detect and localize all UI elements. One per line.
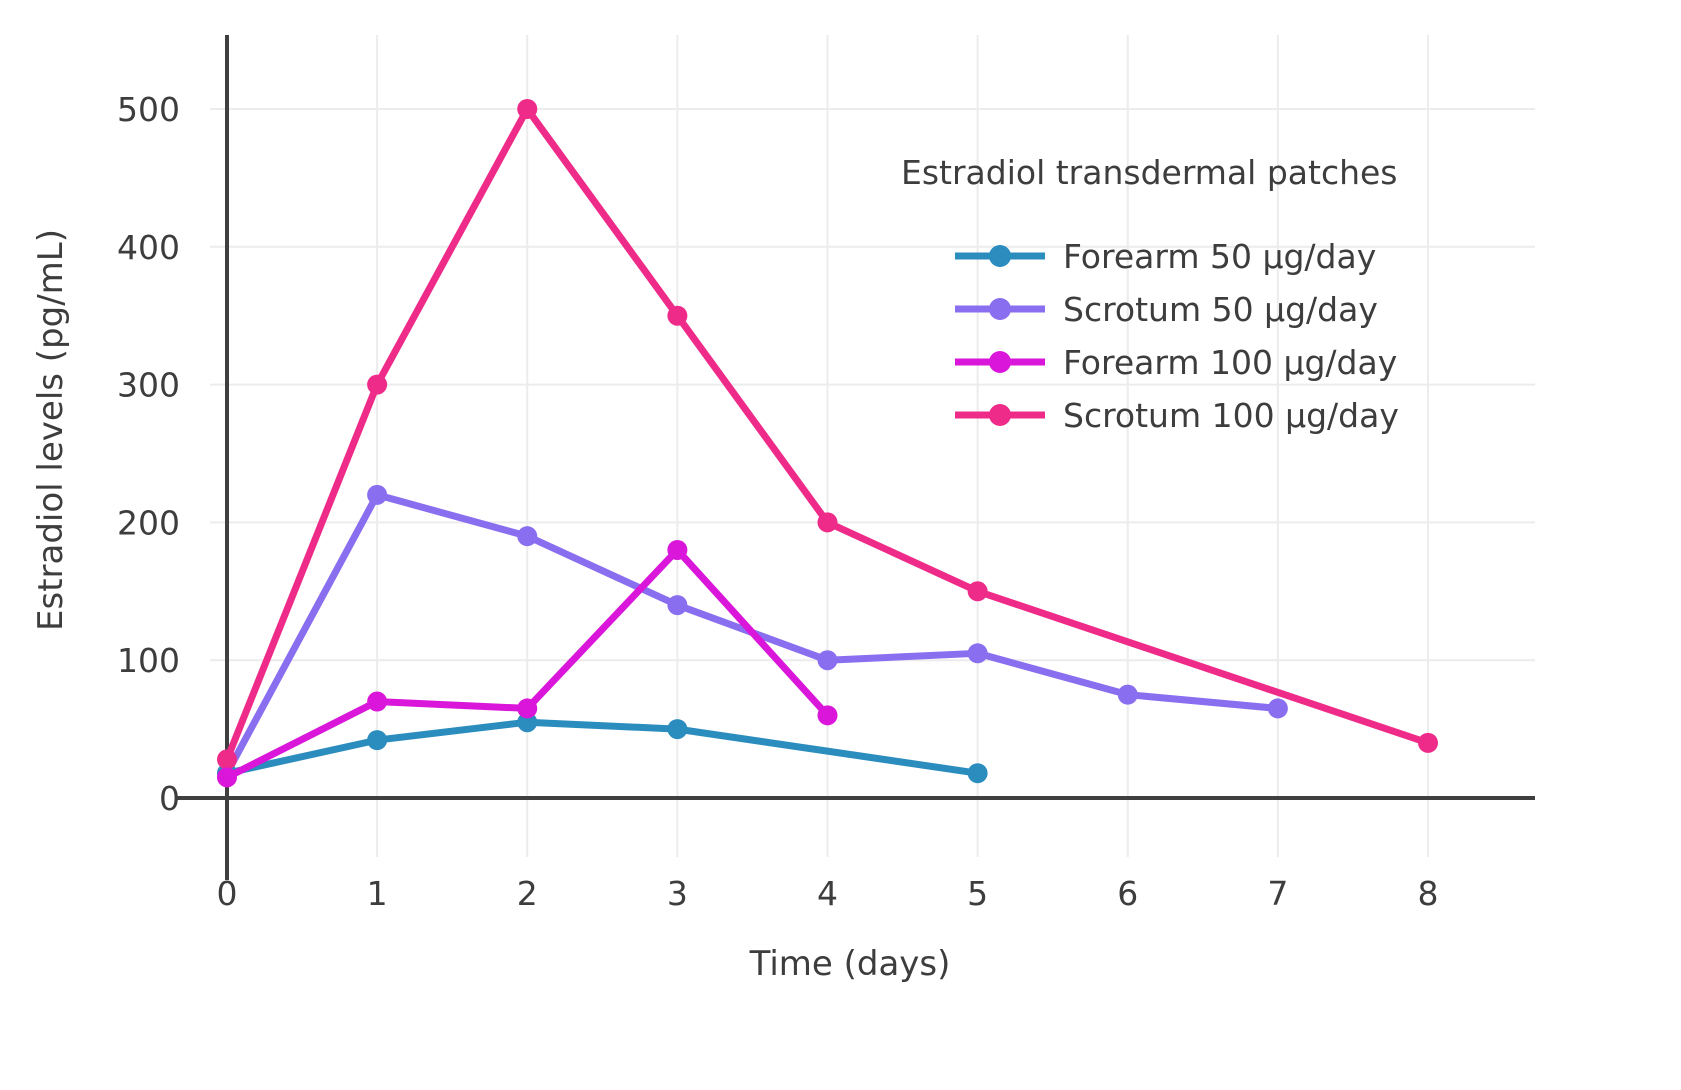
data-point — [667, 595, 687, 615]
data-point — [217, 767, 237, 787]
data-point — [367, 692, 387, 712]
legend-item[interactable]: Forearm 50 µg/day — [955, 237, 1376, 276]
x-tick-label: 6 — [1117, 874, 1138, 913]
data-point — [968, 643, 988, 663]
legend: Estradiol transdermal patches Forearm 50… — [901, 153, 1399, 435]
y-tick-label: 400 — [117, 228, 180, 267]
y-axis-title: Estradiol levels (pg/mL) — [31, 229, 71, 631]
data-point — [818, 512, 838, 532]
legend-swatch-marker — [989, 245, 1011, 267]
data-point — [667, 540, 687, 560]
legend-item-label: Forearm 100 µg/day — [1063, 343, 1397, 382]
chart-container: 0100200300400500 012345678 Estradiol lev… — [0, 0, 1681, 1090]
data-point — [367, 730, 387, 750]
y-tick-label: 500 — [117, 90, 180, 129]
x-tick-label: 2 — [517, 874, 538, 913]
x-tick-labels: 012345678 — [217, 874, 1439, 913]
y-tick-labels: 0100200300400500 — [117, 90, 180, 818]
data-point — [1268, 698, 1288, 718]
x-axis-title: Time (days) — [749, 944, 951, 984]
y-tick-label: 100 — [117, 641, 180, 680]
data-point — [367, 375, 387, 395]
data-point — [1418, 733, 1438, 753]
legend-swatch-marker — [989, 298, 1011, 320]
data-point — [517, 698, 537, 718]
legend-item-label: Scrotum 100 µg/day — [1063, 396, 1399, 435]
data-point — [667, 719, 687, 739]
legend-item[interactable]: Forearm 100 µg/day — [955, 343, 1397, 382]
data-point — [968, 763, 988, 783]
legend-title: Estradiol transdermal patches — [901, 153, 1398, 192]
x-tick-label: 7 — [1267, 874, 1288, 913]
x-tick-label: 1 — [367, 874, 388, 913]
data-point — [1118, 685, 1138, 705]
legend-items: Forearm 50 µg/dayScrotum 50 µg/dayForear… — [955, 237, 1399, 435]
data-point — [367, 485, 387, 505]
series-line — [227, 722, 978, 773]
data-point — [517, 99, 537, 119]
y-tick-label: 200 — [117, 503, 180, 542]
x-tick-label: 3 — [667, 874, 688, 913]
x-tick-label: 8 — [1418, 874, 1439, 913]
x-tick-label: 5 — [967, 874, 988, 913]
line-chart: 0100200300400500 012345678 Estradiol lev… — [0, 0, 1681, 1090]
legend-item[interactable]: Scrotum 50 µg/day — [955, 290, 1378, 329]
data-point — [818, 705, 838, 725]
y-tick-label: 300 — [117, 366, 180, 405]
legend-swatch-marker — [989, 351, 1011, 373]
y-tick-label: 0 — [159, 779, 180, 818]
data-point — [818, 650, 838, 670]
x-tick-label: 4 — [817, 874, 838, 913]
legend-item[interactable]: Scrotum 100 µg/day — [955, 396, 1399, 435]
legend-item-label: Forearm 50 µg/day — [1063, 237, 1376, 276]
legend-swatch-marker — [989, 404, 1011, 426]
x-tick-label: 0 — [217, 874, 238, 913]
data-point — [517, 526, 537, 546]
data-point — [667, 306, 687, 326]
legend-item-label: Scrotum 50 µg/day — [1063, 290, 1378, 329]
data-point — [968, 581, 988, 601]
data-point — [217, 749, 237, 769]
